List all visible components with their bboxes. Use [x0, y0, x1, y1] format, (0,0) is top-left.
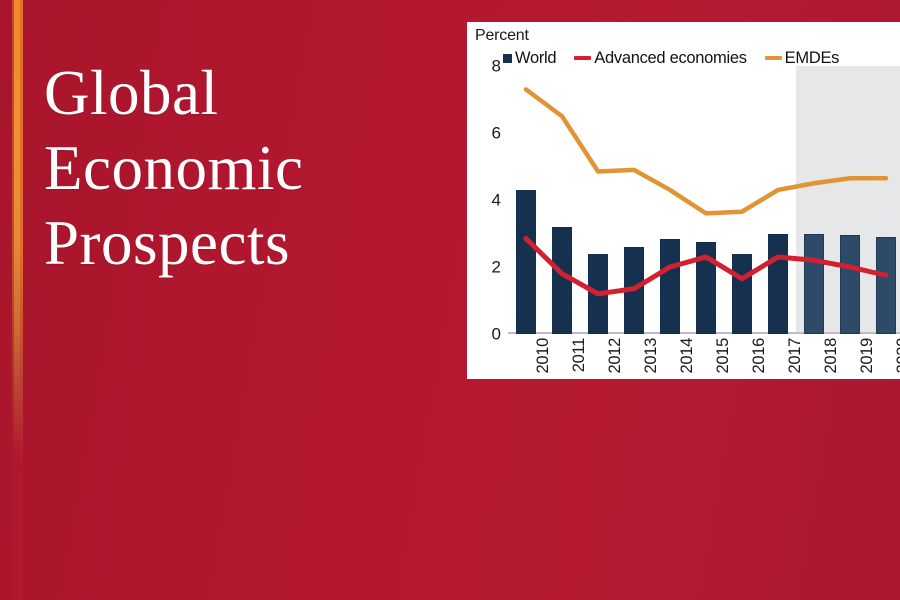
accent-stripe-right-glow — [20, 0, 23, 600]
y-axis-unit-label: Percent — [475, 27, 529, 45]
legend-item-advanced-economies: Advanced economies — [574, 49, 746, 68]
y-axis-tick-4: 4 — [492, 192, 501, 209]
x-axis-tick-2020: 2020 — [894, 338, 900, 374]
x-axis-tick-2012: 2012 — [606, 338, 625, 374]
chart-plot-area: 02468 2010201120122013201420152016201720… — [508, 66, 900, 334]
legend-label-advanced-economies: Advanced economies — [594, 49, 746, 68]
line-series-layer — [508, 66, 900, 334]
x-axis-tick-2016: 2016 — [750, 338, 769, 374]
x-axis-tick-2018: 2018 — [822, 338, 841, 374]
chart-legend: World Advanced economies EMDEs — [503, 48, 900, 68]
legend-item-world: World — [503, 49, 556, 68]
y-axis-tick-8: 8 — [492, 58, 501, 75]
line-series-emdes — [526, 89, 886, 213]
legend-line-icon — [765, 56, 782, 60]
legend-square-icon — [503, 54, 512, 63]
y-axis-tick-6: 6 — [492, 125, 501, 142]
x-axis-tick-2019: 2019 — [858, 338, 877, 374]
x-axis-tick-2011: 2011 — [570, 338, 589, 372]
page-title-line-1: Global — [44, 56, 303, 131]
y-axis-tick-0: 0 — [492, 326, 501, 343]
accent-stripe — [12, 0, 24, 600]
page-title: Global Economic Prospects — [44, 56, 303, 281]
legend-item-emdes: EMDEs — [765, 49, 839, 68]
line-series-advanced-economies — [526, 239, 886, 294]
gep-cover: Global Economic Prospects Percent World … — [0, 0, 900, 600]
chart-panel: Percent World Advanced economies EMDEs — [467, 22, 900, 379]
legend-label-emdes: EMDEs — [785, 49, 839, 68]
x-axis-tick-2014: 2014 — [678, 338, 697, 374]
x-axis-tick-2013: 2013 — [642, 338, 661, 374]
x-axis-tick-2017: 2017 — [786, 338, 805, 374]
y-axis-tick-2: 2 — [492, 259, 501, 276]
x-axis-tick-2010: 2010 — [534, 338, 553, 374]
page-title-line-2: Economic — [44, 131, 303, 206]
legend-line-icon — [574, 56, 591, 60]
legend-label-world: World — [515, 49, 556, 68]
chart-plot-stage: Percent World Advanced economies EMDEs — [467, 22, 900, 379]
page-title-line-3: Prospects — [44, 206, 303, 281]
x-axis-tick-2015: 2015 — [714, 338, 733, 374]
